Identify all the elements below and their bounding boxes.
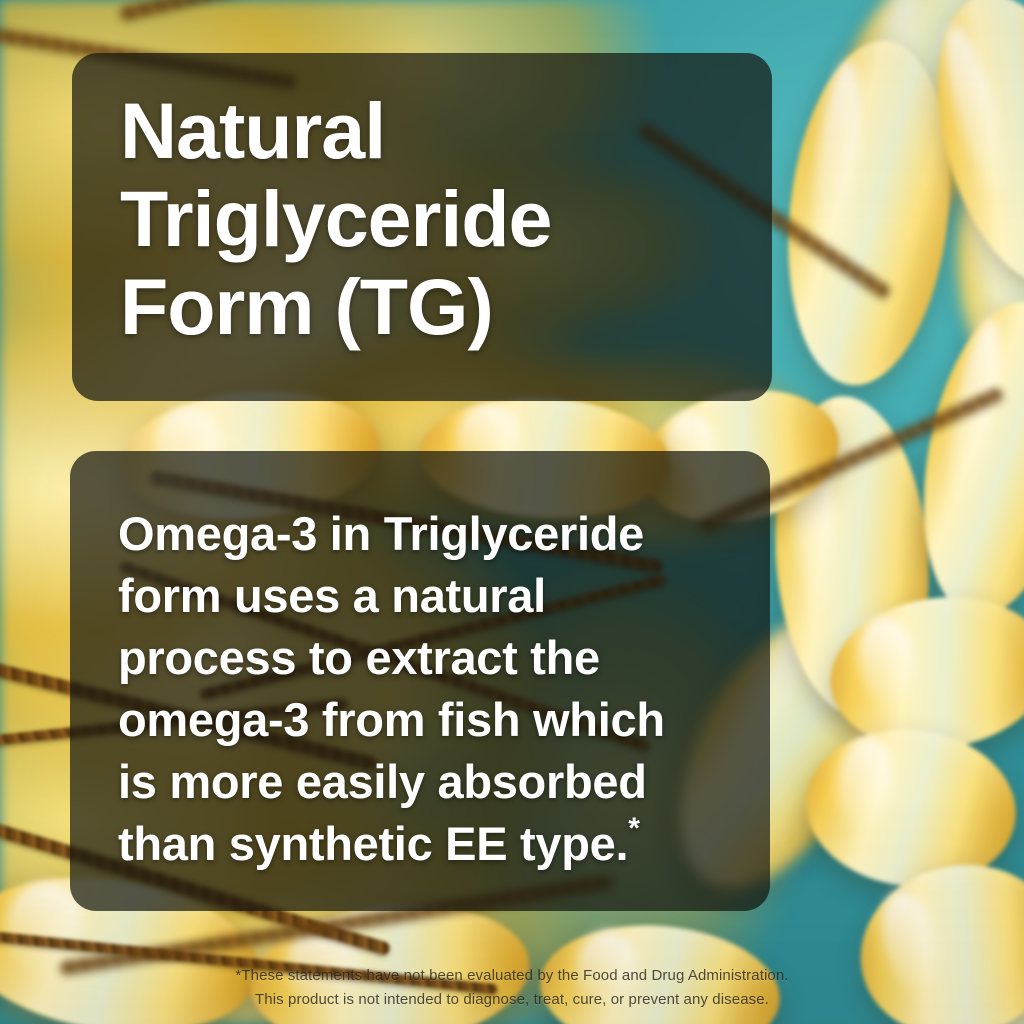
softgel-capsule — [901, 290, 1024, 629]
description-paragraph: Omega-3 in Triglyceride form uses a natu… — [118, 507, 665, 870]
softgel-capsule — [799, 0, 1022, 267]
page-title: Natural Triglyceride Form (TG) — [120, 87, 732, 351]
title-panel: Natural Triglyceride Form (TG) — [72, 53, 772, 401]
softgel-capsule — [765, 391, 939, 723]
footnote-marker: * — [628, 812, 639, 845]
fda-disclaimer: *These statements have not been evaluate… — [0, 964, 1024, 1012]
softgel-capsule — [772, 33, 965, 394]
softgel-capsule — [798, 719, 1023, 896]
rope-strand — [119, 0, 414, 21]
softgel-capsule — [938, 140, 1024, 430]
infographic-canvas: Natural Triglyceride Form (TG) Omega-3 i… — [0, 0, 1024, 1024]
description-text: Omega-3 in Triglyceride form uses a natu… — [118, 503, 730, 875]
description-panel: Omega-3 in Triglyceride form uses a natu… — [70, 451, 770, 911]
softgel-capsule — [821, 583, 1024, 762]
softgel-capsule — [908, 0, 1024, 305]
